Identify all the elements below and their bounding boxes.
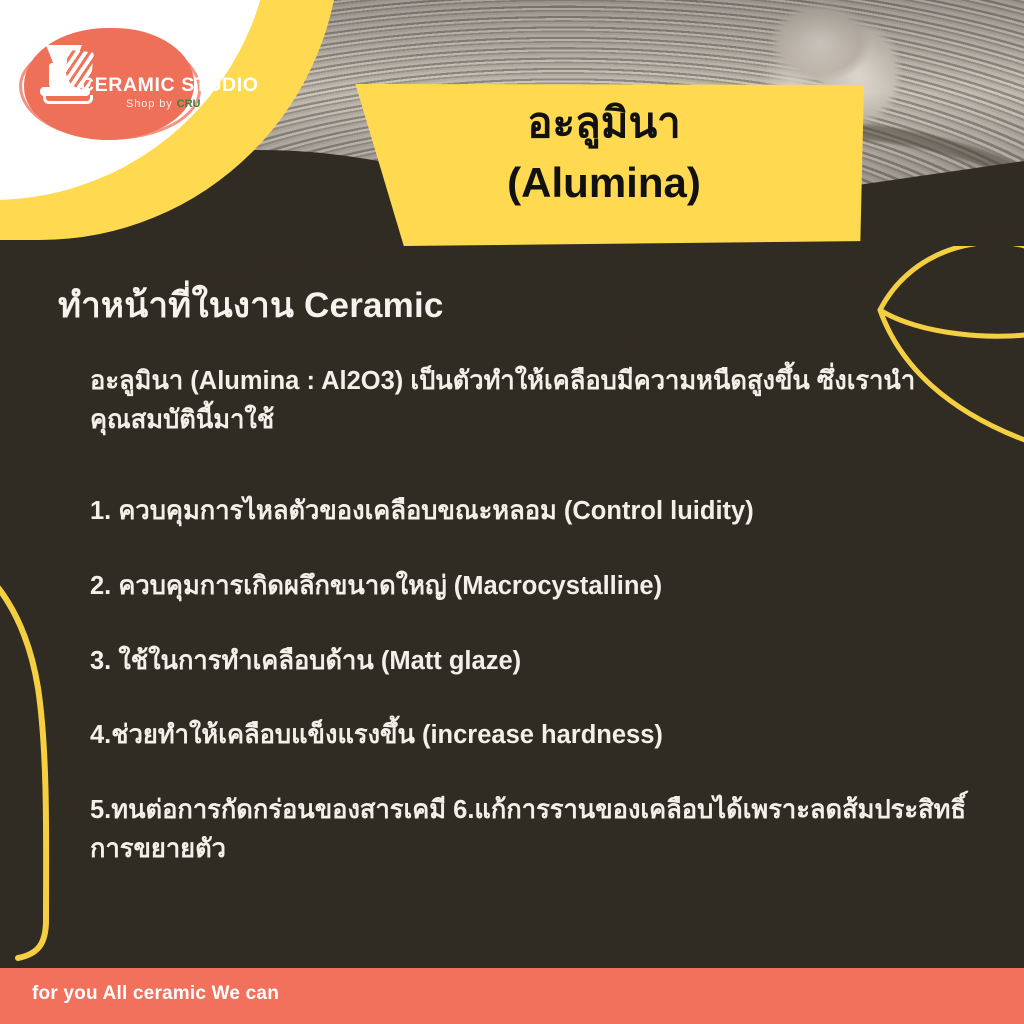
title-line-english: (Alumina) <box>344 161 864 206</box>
footer-text: for you All ceramic We can <box>32 983 279 1005</box>
function-list: 1. ควบคุมการไหลตัวของเคลือบขณะหลอม (Cont… <box>90 492 970 905</box>
list-item: 2. ควบคุมการเกิดผลึกขนาดใหญ่ (Macrocysta… <box>90 567 970 606</box>
poster-canvas: CERAMIC STUDIO Shop by CRU อะลูมินา (Alu… <box>0 0 1024 1024</box>
logo-tagline: Shop by CRU <box>126 98 200 110</box>
logo-tagline-prefix: Shop by <box>126 98 177 110</box>
intro-paragraph: อะลูมินา (Alumina : Al2O3) เป็นตัวทำให้เ… <box>90 362 952 440</box>
list-item: 3. ใช้ในการทำเคลือบด้าน (Matt glaze) <box>90 642 970 681</box>
footer-bar: for you All ceramic We can <box>0 968 1024 1024</box>
list-item: 5.ทนต่อการกัดกร่อนของสารเคมี 6.แก้การราน… <box>90 791 970 869</box>
title-line-thai: อะลูมินา <box>344 101 864 146</box>
list-item: 1. ควบคุมการไหลตัวของเคลือบขณะหลอม (Cont… <box>90 492 970 531</box>
brand-logo[interactable]: CERAMIC STUDIO Shop by CRU <box>18 22 200 148</box>
list-item: 4.ช่วยทำให้เคลือบแข็งแรงขึ้น (increase h… <box>90 716 970 755</box>
page-title: ทำหน้าที่ในงาน Ceramic <box>58 278 444 333</box>
logo-tagline-brand: CRU <box>177 98 201 110</box>
title-banner: อะลูมินา (Alumina) <box>344 84 864 246</box>
logo-name: CERAMIC STUDIO <box>80 74 258 97</box>
